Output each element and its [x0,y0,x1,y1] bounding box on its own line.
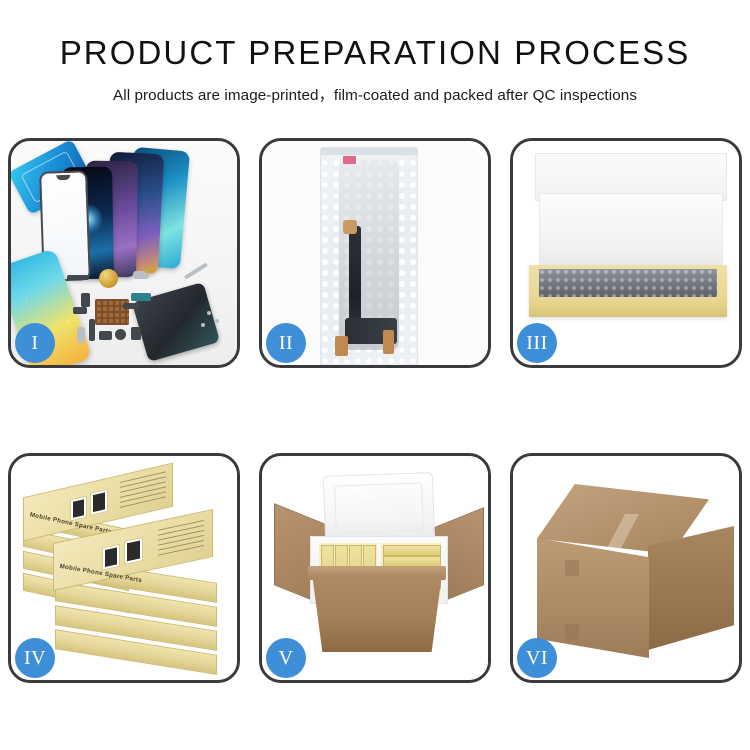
shipping-carton-front [537,538,649,658]
step-badge-2: II [266,323,306,363]
process-step-card-2[interactable]: II [259,138,491,368]
pink-label-sticker [343,156,356,164]
process-step-card-1[interactable]: I [8,138,240,368]
tape-patch-2 [335,336,348,356]
gold-contact-part [145,267,155,273]
bag-seal [321,148,417,155]
copper-coil-part [99,269,118,288]
process-step-card-6[interactable]: VI [510,453,742,683]
carton-body [312,574,442,652]
foam-lid [323,472,435,544]
box-art-screen-3 [102,544,120,571]
process-step-card-4[interactable]: Mobile Phone Spare Parts Mobile Phone Sp… [8,453,240,683]
process-step-grid: I II [8,138,742,683]
box-art-screen-1 [70,496,87,522]
screen-flex-cable [349,226,361,344]
step-badge-6: VI [517,638,557,678]
box-art-screen-4 [124,537,143,565]
step-badge-3: III [517,323,557,363]
process-step-card-5[interactable]: V [259,453,491,683]
sim-tray-part [77,327,85,343]
screw-part-1 [207,311,211,315]
carton-tab-upper [565,560,579,576]
screw-part-3 [201,323,205,327]
box-spec-lines-front [158,520,204,560]
small-part-1 [81,293,90,307]
small-part-5 [131,327,141,340]
tape-patch-1 [343,220,357,234]
process-step-card-3[interactable]: III [510,138,742,368]
box-art-screen-2 [90,489,108,516]
packed-box-5 [383,545,441,556]
small-part-4 [99,331,112,340]
shipping-carton-side [648,526,734,650]
white-foam-sheet [539,193,723,269]
retail-box-stack: Mobile Phone Spare Parts Mobile Phone Sp… [19,474,233,674]
carton-tab-lower [565,624,579,640]
tweezers-tool [184,262,208,279]
gray-bubble-padding [539,269,717,297]
flex-cable-part-2 [131,293,151,301]
small-part-3 [123,303,139,309]
box-front-rim [529,302,727,317]
screw-part-2 [215,319,219,323]
page-title: PRODUCT PREPARATION PROCESS [0,0,750,72]
bubble-wrap-bag [320,147,418,365]
speaker-part [115,329,126,340]
flex-cable-part-3 [89,319,95,341]
kraft-box-tray [529,265,727,317]
step-badge-4: IV [15,638,55,678]
tape-patch-3 [383,330,394,354]
connector-part [67,275,89,280]
page-subtitle: All products are image-printed，film-coat… [0,72,750,105]
step-badge-5: V [266,638,306,678]
step-badge-1: I [15,323,55,363]
box-spec-lines-back [120,471,166,512]
header: PRODUCT PREPARATION PROCESS All products… [0,0,750,105]
product-preparation-infographic: PRODUCT PREPARATION PROCESS All products… [0,0,750,750]
small-part-2 [73,307,87,314]
